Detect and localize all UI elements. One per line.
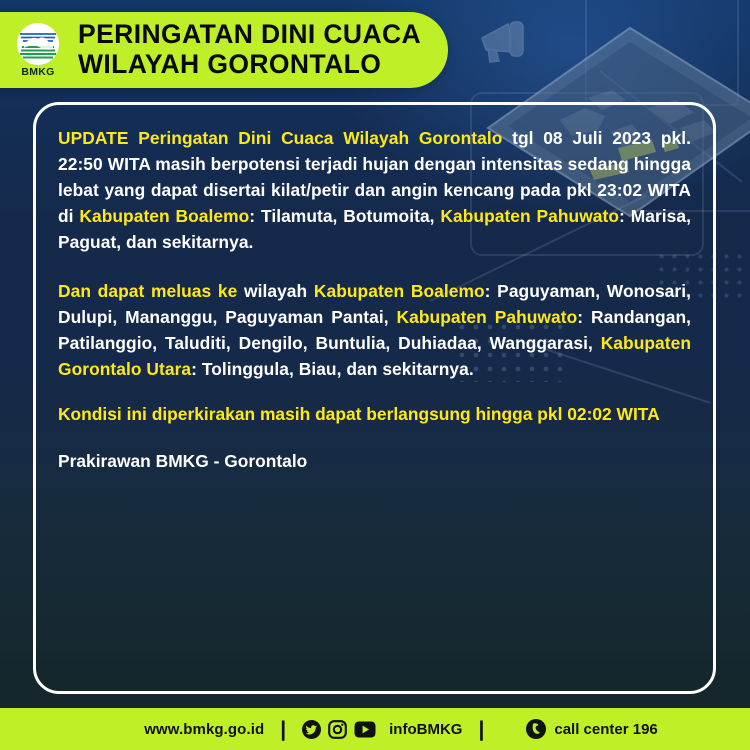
highlighted-text: UPDATE Peringatan Dini Cuaca Wilayah Gor… — [58, 128, 502, 148]
highlighted-text: Kabupaten Pahuwato — [440, 206, 619, 226]
warning-paragraph-1: UPDATE Peringatan Dini Cuaca Wilayah Gor… — [58, 125, 691, 256]
call-center[interactable]: call center 196 — [526, 719, 657, 739]
page-title-line-1: PERINGATAN DINI CUACA — [78, 19, 421, 49]
twitter-icon[interactable] — [302, 720, 321, 739]
bmkg-logo-label: BMKG — [21, 66, 54, 78]
social-handle: infoBMKG — [389, 721, 462, 738]
circuit-line-decor — [585, 0, 739, 106]
page-title: PERINGATAN DINI CUACA WILAYAH GORONTALO — [78, 20, 421, 79]
page-title-line-2: WILAYAH GORONTALO — [78, 50, 421, 80]
phone-icon — [526, 719, 546, 739]
bmkg-logo-icon — [17, 23, 59, 65]
highlighted-text: Dan dapat meluas ke — [58, 281, 237, 301]
warning-paragraph-2: Dan dapat meluas ke wilayah Kabupaten Bo… — [58, 278, 691, 382]
social-links[interactable]: infoBMKG — [302, 720, 462, 739]
header-banner: BMKG PERINGATAN DINI CUACA WILAYAH GORON… — [0, 12, 448, 88]
instagram-icon[interactable] — [328, 720, 347, 739]
highlighted-text: Kabupaten Boalemo — [79, 206, 249, 226]
bmkg-logo: BMKG — [12, 23, 64, 78]
footer-bar: www.bmkg.go.id | infoBMKG | — [0, 708, 750, 750]
weather-warning-poster: BMKG PERINGATAN DINI CUACA WILAYAH GORON… — [0, 0, 750, 750]
warning-card: UPDATE Peringatan Dini Cuaca Wilayah Gor… — [33, 102, 716, 694]
highlighted-text: Kabupaten Boalemo — [314, 281, 485, 301]
highlighted-text: Kabupaten Pahuwato — [397, 307, 578, 327]
megaphone-icon — [474, 18, 536, 66]
forecaster-signature: Prakirawan BMKG - Gorontalo — [58, 451, 691, 472]
footer-separator-right: | — [478, 719, 484, 740]
call-center-label: call center 196 — [554, 721, 657, 738]
footer-separator-left: | — [280, 719, 286, 740]
body-text: wilayah — [237, 281, 314, 301]
youtube-icon[interactable] — [354, 721, 376, 738]
website-link[interactable]: www.bmkg.go.id — [144, 721, 264, 738]
body-text: : Tolinggula, Biau, dan sekitarnya. — [191, 359, 474, 379]
warning-duration-note: Kondisi ini diperkirakan masih dapat ber… — [58, 404, 691, 425]
body-text: : Tilamuta, Botumoita, — [249, 206, 440, 226]
